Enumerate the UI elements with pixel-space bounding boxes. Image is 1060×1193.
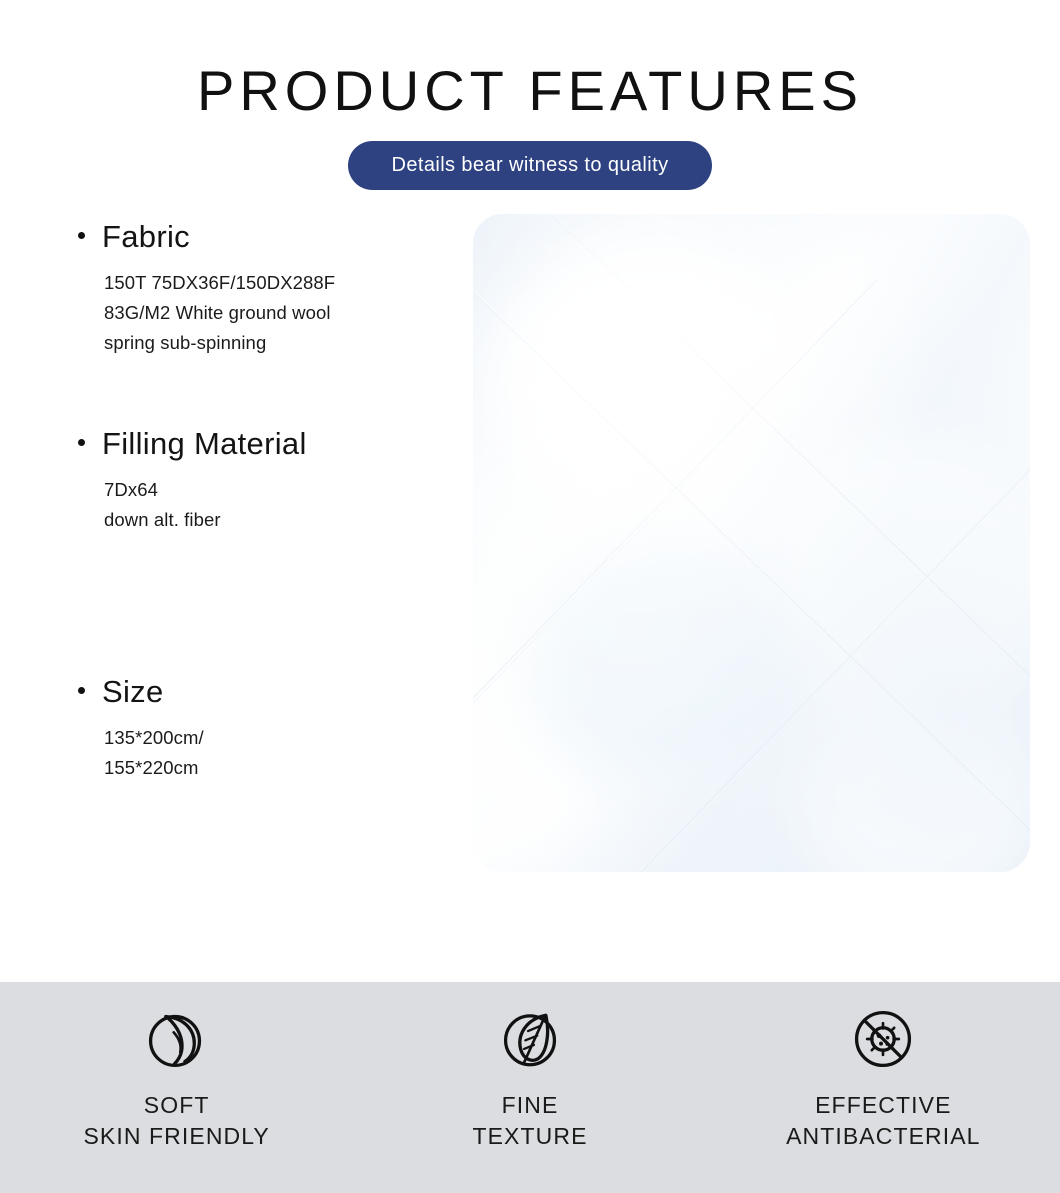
feature-badge-fine-texture: FINE TEXTURE — [353, 982, 706, 1193]
feature-badge-soft-skin-friendly: SOFT SKIN FRIENDLY — [0, 982, 353, 1193]
spec-detail-line: down alt. fiber — [104, 505, 420, 535]
feature-badges-band: SOFT SKIN FRIENDLY FINE TEXTURE — [0, 982, 1060, 1193]
dot-bullet-icon — [78, 687, 85, 694]
spec-item-filling-material: Filling Material 7Dx64 down alt. fiber — [0, 427, 420, 535]
feature-label: SOFT SKIN FRIENDLY — [83, 1090, 269, 1151]
spec-heading: Fabric — [0, 220, 420, 254]
subtitle-badge: Details bear witness to quality — [348, 141, 713, 190]
feature-label: EFFECTIVE ANTIBACTERIAL — [786, 1090, 981, 1151]
spec-item-fabric: Fabric 150T 75DX36F/150DX288F 83G/M2 Whi… — [0, 220, 420, 359]
spec-detail: 150T 75DX36F/150DX288F 83G/M2 White grou… — [104, 268, 420, 358]
spec-detail-line: 7Dx64 — [104, 475, 420, 505]
spec-detail: 7Dx64 down alt. fiber — [104, 475, 420, 535]
leaf-in-circle-icon — [497, 1006, 563, 1072]
feature-label-line1: FINE — [472, 1090, 587, 1121]
subtitle-container: Details bear witness to quality — [0, 141, 1060, 190]
product-image — [473, 214, 1030, 872]
page-header: PRODUCT FEATURES Details bear witness to… — [0, 0, 1060, 190]
spec-detail-line: 150T 75DX36F/150DX288F — [104, 268, 420, 298]
spec-title: Filling Material — [102, 427, 307, 461]
spec-item-size: Size 135*200cm/ 155*220cm — [0, 675, 420, 783]
no-germ-icon — [850, 1006, 916, 1072]
product-image-shading — [473, 214, 1030, 872]
page-title: PRODUCT FEATURES — [0, 62, 1060, 121]
feature-badge-effective-antibacterial: EFFECTIVE ANTIBACTERIAL — [707, 982, 1060, 1193]
feature-label-line2: SKIN FRIENDLY — [83, 1121, 269, 1152]
feather-in-circle-icon — [144, 1006, 210, 1072]
spec-detail-line: 83G/M2 White ground wool — [104, 298, 420, 328]
feature-label-line2: ANTIBACTERIAL — [786, 1121, 981, 1152]
spec-detail-line: 155*220cm — [104, 753, 420, 783]
spec-detail-line: spring sub-spinning — [104, 328, 420, 358]
spec-heading: Filling Material — [0, 427, 420, 461]
feature-label-line2: TEXTURE — [472, 1121, 587, 1152]
feature-label: FINE TEXTURE — [472, 1090, 587, 1151]
spec-title: Size — [102, 675, 164, 709]
spec-heading: Size — [0, 675, 420, 709]
dot-bullet-icon — [78, 232, 85, 239]
feature-label-line1: SOFT — [83, 1090, 269, 1121]
dot-bullet-icon — [78, 439, 85, 446]
spec-title: Fabric — [102, 220, 190, 254]
spec-detail-line: 135*200cm/ — [104, 723, 420, 753]
spec-detail: 135*200cm/ 155*220cm — [104, 723, 420, 783]
feature-label-line1: EFFECTIVE — [786, 1090, 981, 1121]
main-content: Fabric 150T 75DX36F/150DX288F 83G/M2 Whi… — [0, 208, 1060, 920]
